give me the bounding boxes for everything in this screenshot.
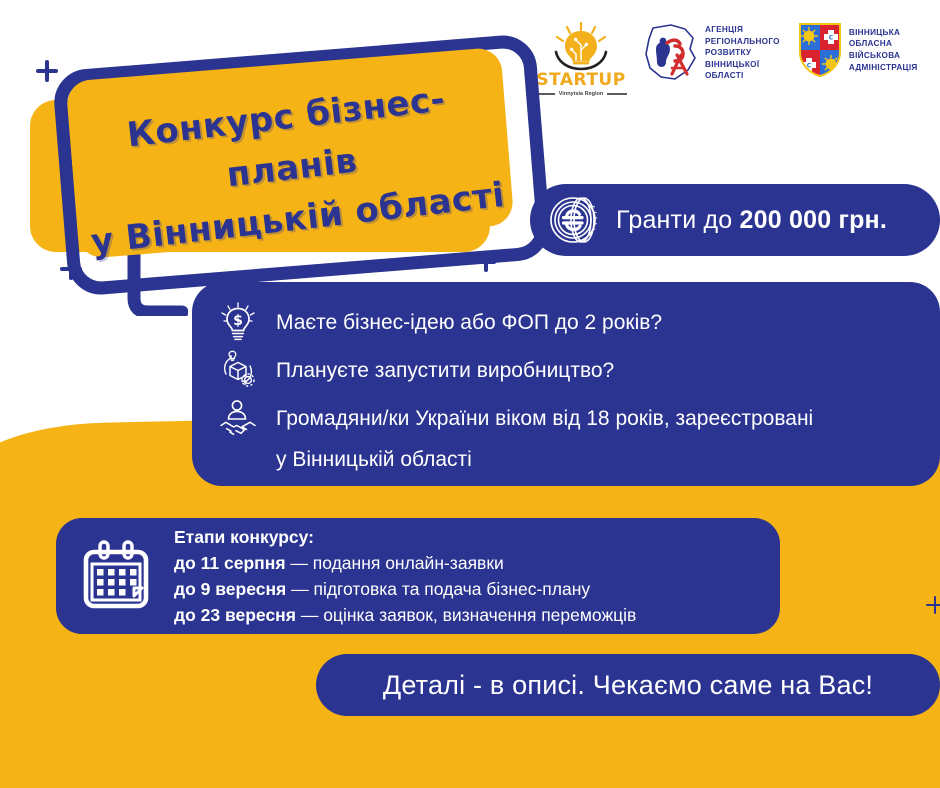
criteria-panel: $ Маєте бізнес-ідею або ФОП до 2 років? [192,282,940,486]
criteria-item-text: Громадяни/ки України віком від 18 років,… [276,400,813,433]
criteria-continuation-text: у Вінницькій області [218,448,912,472]
ova-line: ОБЛАСНА [849,38,918,50]
calendar-icon [78,538,154,614]
ova-line: ВІННИЦЬКА [849,27,918,39]
ova-line: ВІЙСЬКОВА [849,50,918,62]
stage-dash: — [296,605,323,625]
svg-text:$: $ [233,313,243,329]
stage-dash: — [286,553,313,573]
startup-wordmark: STARTUP [536,70,625,90]
cta-banner[interactable]: Деталі - в описі. Чекаємо саме на Вас! [316,654,940,716]
ard-line: РЕГІОНАЛЬНОГО [705,36,780,48]
plus-decoration-icon [926,596,940,614]
stage-desc: підготовка та подача бізнес-плану [313,579,590,599]
grants-prefix: Гранти до [616,206,740,234]
ard-line: ОБЛАСТІ [705,70,780,82]
criteria-item-text: Плануєте запустити виробництво? [276,352,614,385]
ard-line: АГЕНЦІЯ [705,24,780,36]
grants-amount: 200 000 грн. [740,206,887,234]
ard-line: РОЗВИТКУ [705,47,780,59]
stage-date: до 9 вересня [174,579,286,599]
lightbulb-dollar-icon: $ [218,302,258,342]
criteria-item: Плануєте запустити виробництво? [218,352,912,390]
stage-desc: подання онлайн-заявки [313,553,504,573]
cta-text: Деталі - в описі. Чекаємо саме на Вас! [383,670,873,701]
criteria-item-text: Маєте бізнес-ідею або ФОП до 2 років? [276,304,662,337]
ova-line: АДМІНІСТРАЦІЯ [849,62,918,74]
coat-of-arms-icon: C C [798,22,842,78]
logo-oblast-military-administration: C C ВІННИЦЬКА ОБЛАСНА ВІЙСЬКОВА АДМІНІСТ… [798,22,918,78]
stage-row: до 23 вересня — оцінка заявок, визначенн… [174,602,636,628]
box-gear-production-icon [218,350,258,390]
logo-startup: STARTUP Vinnytsia Region [535,22,627,97]
hryvnia-coin-icon [550,194,602,246]
criteria-item: Громадяни/ки України віком від 18 років,… [218,400,912,438]
grants-text: Гранти до 200 000 грн. [616,206,887,235]
stage-desc: оцінка заявок, визначення переможців [323,605,636,625]
stage-date: до 23 вересня [174,605,296,625]
lightbulb-circuit-icon [550,22,612,72]
poster-canvas: STARTUP Vinnytsia Region АГЕНЦІЯ РЕГІОНА [0,0,940,788]
handshake-person-icon [218,398,258,438]
stages-heading: Етапи конкурсу: [174,524,636,550]
stages-panel: Етапи конкурсу: до 11 серпня — подання о… [56,518,780,634]
stage-row: до 11 серпня — подання онлайн-заявки [174,550,636,576]
startup-subtitle-text: Vinnytsia Region [559,91,604,97]
stage-dash: — [286,579,313,599]
svg-text:C: C [829,35,834,42]
criteria-item: $ Маєте бізнес-ідею або ФОП до 2 років? [218,304,912,342]
startup-subtitle: Vinnytsia Region [535,91,627,97]
logo-agency-regional-development: АГЕНЦІЯ РЕГІОНАЛЬНОГО РОЗВИТКУ ВІННИЦЬКО… [641,22,780,84]
ova-text-block: ВІННИЦЬКА ОБЛАСНА ВІЙСЬКОВА АДМІНІСТРАЦІ… [849,27,918,74]
stages-list: Етапи конкурсу: до 11 серпня — подання о… [174,524,636,629]
header-logo-row: STARTUP Vinnytsia Region АГЕНЦІЯ РЕГІОНА [535,22,935,108]
ard-text-block: АГЕНЦІЯ РЕГІОНАЛЬНОГО РОЗВИТКУ ВІННИЦЬКО… [705,24,780,82]
stage-row: до 9 вересня — підготовка та подача бізн… [174,576,636,602]
rule-right [607,93,627,95]
plus-decoration-icon [36,60,58,82]
grants-banner: Гранти до 200 000 грн. [530,184,940,256]
stage-date: до 11 серпня [174,553,286,573]
ard-line: ВІННИЦЬКОЇ [705,59,780,71]
vinnytsia-region-map-ard-icon [641,22,699,84]
